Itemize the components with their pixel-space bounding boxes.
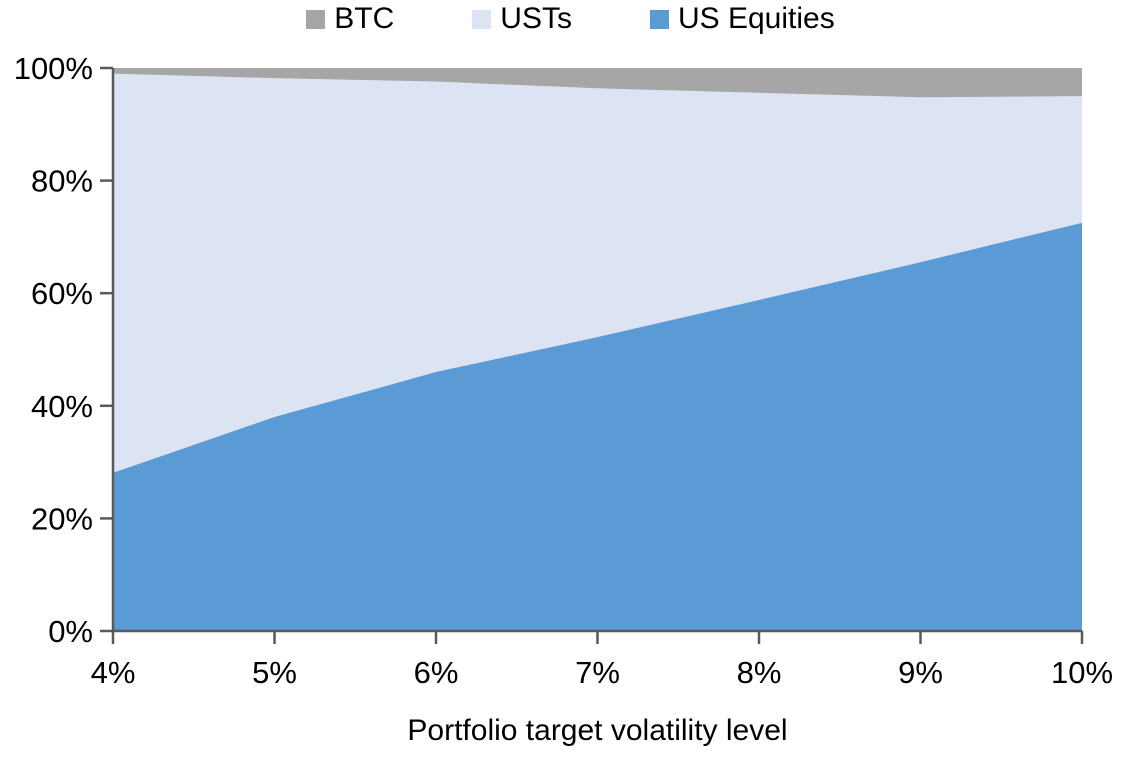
x-tick-label: 6% (414, 655, 459, 690)
stacked-area-plot: 0%20%40%60%80%100% 4%5%6%7%8%9%10% Portf… (0, 0, 1141, 763)
y-tick-label: 100% (14, 51, 93, 86)
chart-container: BTC USTs US Equities 0%20%40%60%80%100% … (0, 0, 1141, 763)
x-axis-title: Portfolio target volatility level (407, 714, 787, 747)
area-series-group (113, 68, 1082, 631)
x-tick-label: 8% (737, 655, 782, 690)
y-tick-label: 20% (31, 501, 93, 536)
x-tick-label: 7% (575, 655, 620, 690)
x-tick-label: 5% (252, 655, 297, 690)
y-tick-label: 40% (31, 389, 93, 424)
x-axis-tick-labels: 4%5%6%7%8%9%10% (91, 655, 1113, 690)
x-tick-label: 4% (91, 655, 136, 690)
y-tick-label: 80% (31, 164, 93, 199)
x-tick-label: 10% (1051, 655, 1113, 690)
x-tick-label: 9% (898, 655, 943, 690)
y-tick-label: 60% (31, 276, 93, 311)
y-axis-tick-labels: 0%20%40%60%80%100% (14, 51, 93, 649)
y-tick-label: 0% (48, 614, 93, 649)
